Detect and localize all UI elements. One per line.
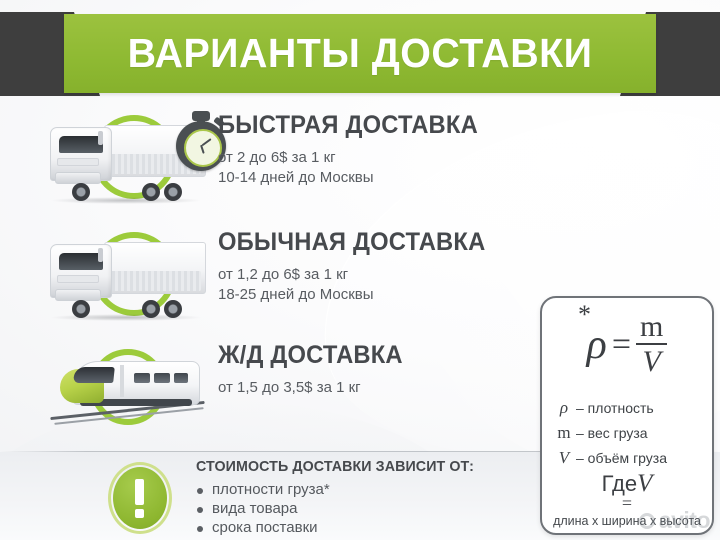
legend-row-mass: m – вес груза — [556, 423, 706, 443]
cost-note-heading: СТОИМОСТЬ ДОСТАВКИ ЗАВИСИТ ОТ: — [196, 458, 474, 475]
delivery-option-regular: ОБЫЧНАЯ ДОСТАВКА от 1,2 до 6$ за 1 кг 18… — [0, 220, 560, 332]
truck-illustration — [46, 238, 206, 316]
list-item: вида товара — [196, 499, 330, 518]
header-ribbon: ВАРИАНТЫ ДОСТАВКИ — [0, 0, 720, 100]
delivery-option-text: БЫСТРАЯ ДОСТАВКА от 2 до 6$ за 1 кг 10-1… — [218, 111, 558, 188]
train-illustration — [50, 351, 205, 427]
legend-text: – вес груза — [576, 425, 648, 441]
density-formula-card: * ρ = m V ρ – плотность m – вес груза V … — [540, 296, 714, 535]
option-line-duration: 10-14 дней до Москвы — [218, 168, 558, 188]
list-item: плотности груза* — [196, 480, 330, 499]
legend-text: – плотность — [576, 400, 654, 416]
option-title: БЫСТРАЯ ДОСТАВКА — [218, 111, 541, 140]
delivery-options-infographic: ВАРИАНТЫ ДОСТАВКИ — [0, 0, 720, 540]
list-item: срока поставки — [196, 518, 330, 537]
where-symbol: V — [637, 470, 652, 497]
watermark-text: avito — [659, 507, 710, 534]
legend-row-volume: V – объём груза — [556, 448, 706, 468]
legend-text: – объём груза — [576, 450, 667, 466]
option-line-price: от 1,5 до 3,5$ за 1 кг — [218, 378, 558, 398]
fraction-numerator: m — [636, 312, 667, 343]
delivery-option-rail: Ж/Д ДОСТАВКА от 1,5 до 3,5$ за 1 кг — [0, 333, 560, 445]
rho-symbol: ρ — [587, 323, 607, 367]
density-formula: ρ = m V — [542, 312, 712, 377]
equals-symbol: = — [612, 323, 631, 367]
option-line-duration: 18-25 дней до Москвы — [218, 285, 558, 305]
avito-watermark: avito — [639, 507, 710, 534]
option-line-price: от 1,2 до 6$ за 1 кг — [218, 265, 558, 285]
delivery-option-text: ОБЫЧНАЯ ДОСТАВКА от 1,2 до 6$ за 1 кг 18… — [218, 228, 558, 305]
exclamation-icon — [108, 462, 172, 534]
option-title: ОБЫЧНАЯ ДОСТАВКА — [218, 228, 541, 257]
train-icon — [40, 333, 215, 441]
option-title: Ж/Д ДОСТАВКА — [218, 341, 541, 370]
fraction-denominator: V — [639, 345, 665, 377]
option-line-price: от 2 до 6$ за 1 кг — [218, 148, 558, 168]
mass-over-volume-fraction: m V — [636, 312, 667, 377]
legend-row-density: ρ – плотность — [556, 398, 706, 418]
page-title: ВАРИАНТЫ ДОСТАВКИ — [76, 14, 644, 93]
legend-symbol: ρ — [556, 398, 572, 418]
legend-symbol: m — [556, 423, 572, 443]
watermark-icon — [639, 513, 655, 529]
legend-symbol: V — [556, 448, 572, 468]
cost-factor-list: плотности груза* вида товара срока поста… — [196, 480, 330, 537]
formula-legend: ρ – плотность m – вес груза V – объём гр… — [556, 398, 706, 473]
delivery-option-text: Ж/Д ДОСТАВКА от 1,5 до 3,5$ за 1 кг — [218, 341, 558, 398]
truck-with-stopwatch-icon — [40, 103, 215, 211]
delivery-option-fast: БЫСТРАЯ ДОСТАВКА от 2 до 6$ за 1 кг 10-1… — [0, 103, 560, 215]
cost-note: СТОИМОСТЬ ДОСТАВКИ ЗАВИСИТ ОТ: плотности… — [108, 458, 528, 538]
truck-icon — [40, 220, 215, 328]
